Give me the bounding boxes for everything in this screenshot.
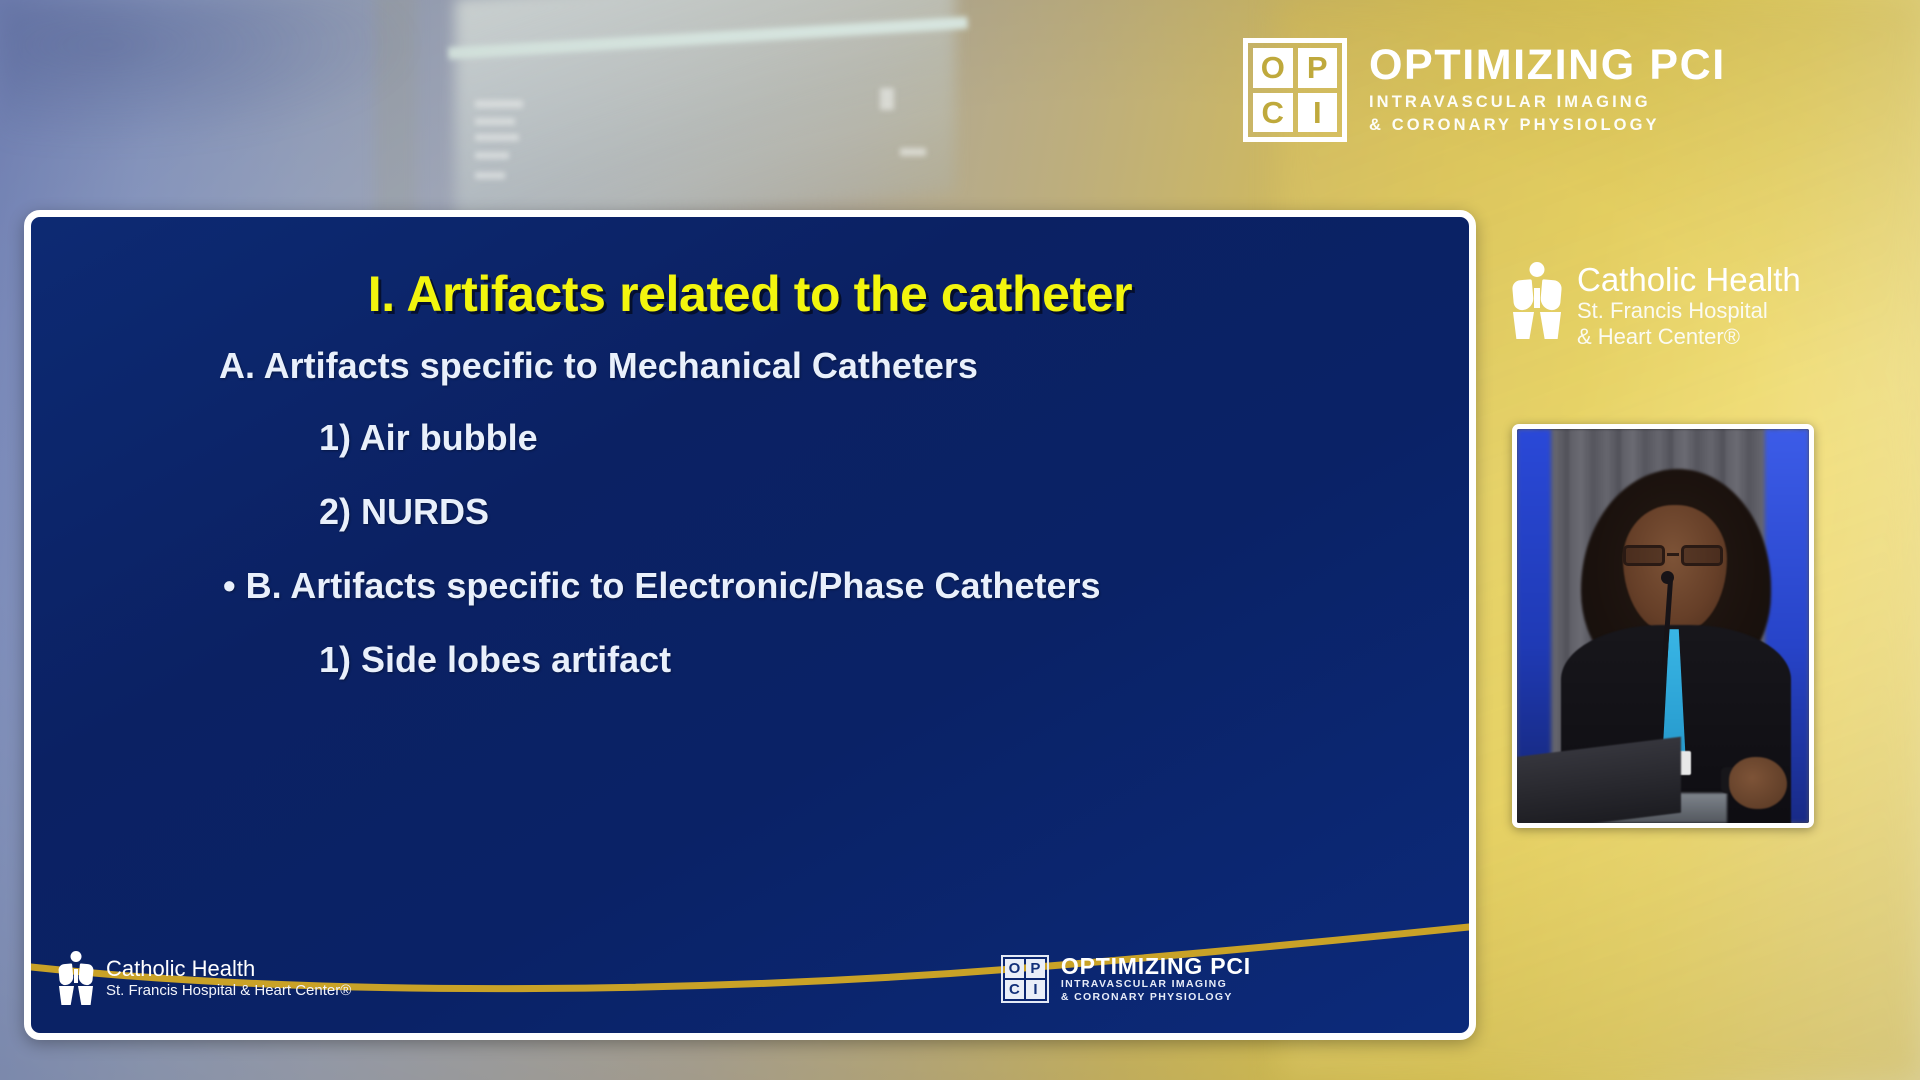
speaker-video-frame: [1517, 429, 1809, 823]
opci-logo-cell-c: C: [1253, 93, 1293, 133]
opci-logo-cell-c: C: [1005, 980, 1024, 999]
opci-logo-icon: O P C I: [1001, 955, 1049, 1003]
slide-panel: I. Artifacts related to the catheter A. …: [24, 210, 1476, 1040]
opci-logo-cell-p: P: [1026, 959, 1045, 978]
header-title: OPTIMIZING PCI: [1369, 44, 1726, 88]
opci-logo-cell-i: I: [1298, 93, 1338, 133]
header-subtitle-line1: INTRAVASCULAR IMAGING: [1369, 91, 1726, 113]
header-brand-text: OPTIMIZING PCI INTRAVASCULAR IMAGING & C…: [1369, 44, 1726, 137]
speaker-video-thumbnail[interactable]: [1512, 424, 1814, 828]
catholic-health-figure-icon: [59, 951, 93, 1005]
catholic-health-line3: & Heart Center®: [1577, 324, 1801, 350]
footer-opci-sub1: INTRAVASCULAR IMAGING: [1061, 978, 1251, 992]
slide-title: I. Artifacts related to the catheter: [31, 265, 1469, 323]
slide-body-line: 1) Air bubble: [31, 417, 1469, 459]
footer-opci-sub2: & CORONARY PHYSIOLOGY: [1061, 991, 1251, 1005]
footer-catholic-health-logo: Catholic Health St. Francis Hospital & H…: [59, 951, 351, 1005]
opci-logo-cell-o: O: [1005, 959, 1024, 978]
presentation-viewer: O P C I OPTIMIZING PCI INTRAVASCULAR IMA…: [0, 0, 1920, 1080]
speaker-hand: [1729, 757, 1787, 809]
slide-body-line: 1) Side lobes artifact: [31, 639, 1469, 681]
catholic-health-figure-icon: [1513, 262, 1561, 340]
slide-footer: Catholic Health St. Francis Hospital & H…: [31, 913, 1469, 1033]
catholic-health-line2: St. Francis Hospital: [1577, 298, 1801, 324]
footer-opci-title: OPTIMIZING PCI: [1061, 954, 1251, 978]
opci-logo-icon: O P C I: [1243, 38, 1347, 142]
catholic-health-text: Catholic Health St. Francis Hospital & H…: [1577, 262, 1801, 350]
footer-catholic-health-text: Catholic Health St. Francis Hospital & H…: [106, 956, 351, 999]
opci-logo-cell-i: I: [1026, 980, 1045, 999]
slide-body-line: • B. Artifacts specific to Electronic/Ph…: [31, 565, 1469, 607]
opci-logo-cell-p: P: [1298, 48, 1338, 88]
header-opci-brand: O P C I OPTIMIZING PCI INTRAVASCULAR IMA…: [1243, 38, 1726, 142]
speaker-glasses-icon: [1621, 545, 1725, 567]
catholic-health-name: Catholic Health: [1577, 262, 1801, 298]
footer-catholic-health-name: Catholic Health: [106, 956, 351, 981]
opci-logo-cell-o: O: [1253, 48, 1293, 88]
slide-body-line: A. Artifacts specific to Mechanical Cath…: [31, 345, 1469, 387]
sidebar-catholic-health-logo: Catholic Health St. Francis Hospital & H…: [1513, 262, 1801, 350]
header-subtitle-line2: & CORONARY PHYSIOLOGY: [1369, 114, 1726, 136]
footer-opci-text: OPTIMIZING PCI INTRAVASCULAR IMAGING & C…: [1061, 954, 1251, 1005]
slide-body-line: 2) NURDS: [31, 491, 1469, 533]
footer-catholic-health-sub: St. Francis Hospital & Heart Center®: [106, 982, 351, 1000]
slide-body-list: A. Artifacts specific to Mechanical Cath…: [31, 345, 1469, 713]
footer-opci-logo: O P C I OPTIMIZING PCI INTRAVASCULAR IMA…: [1001, 954, 1251, 1005]
